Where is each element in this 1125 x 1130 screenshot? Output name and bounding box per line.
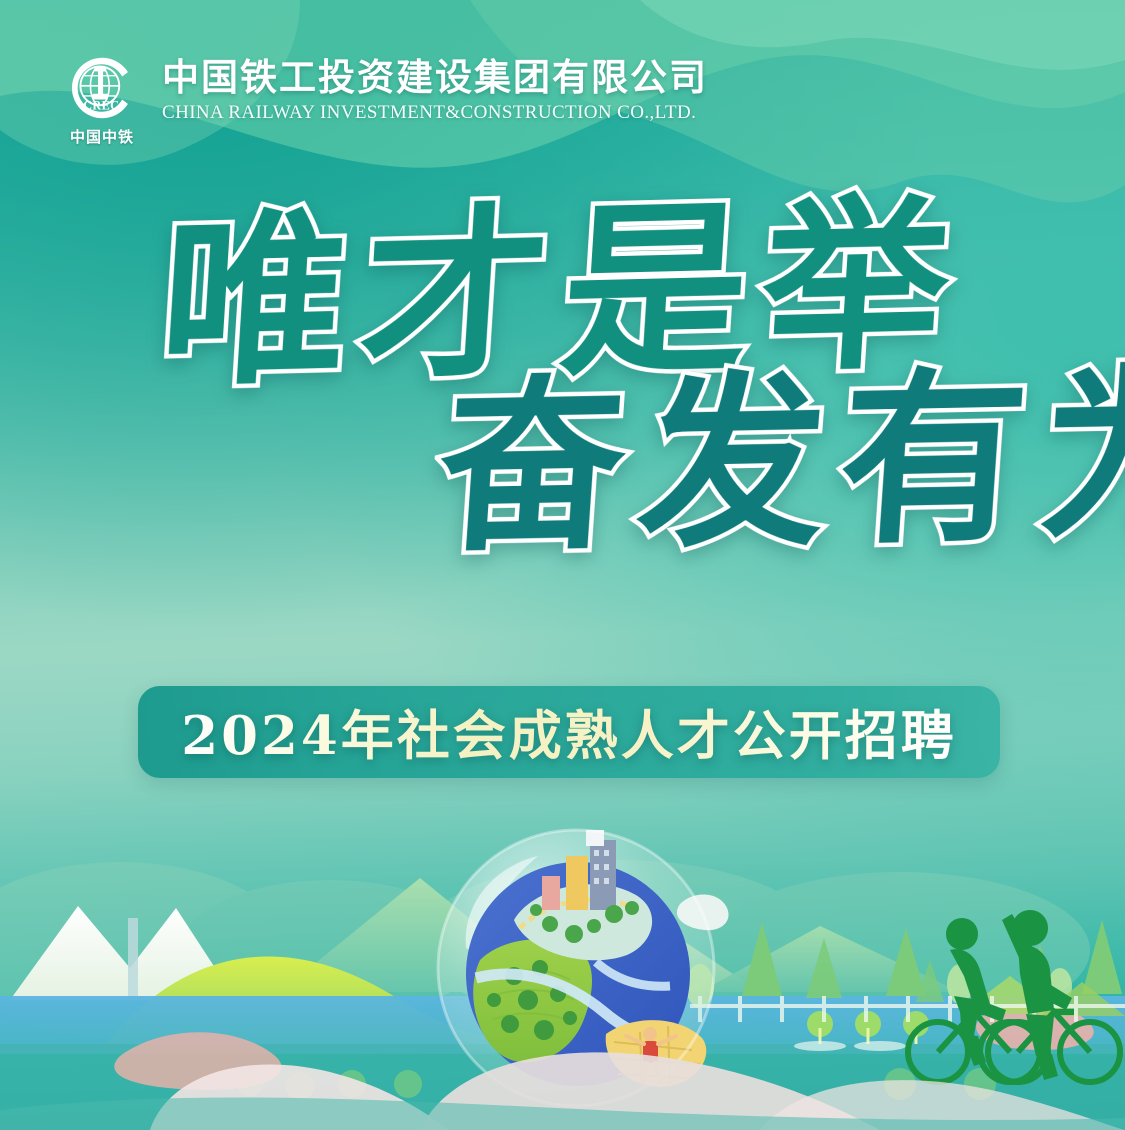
headline-line-2: 奋发有为 xyxy=(433,360,1125,561)
company-name-en: CHINA RAILWAY INVESTMENT&CONSTRUCTION CO… xyxy=(162,102,708,124)
logo-block: CREC 中国中铁 xyxy=(58,52,146,147)
recruitment-poster: CREC 中国中铁 中国铁工投资建设集团有限公司 CHINA RAILWAY I… xyxy=(0,0,1125,1130)
logo-caption: 中国中铁 xyxy=(70,126,134,147)
china-railway-emblem-icon: CREC xyxy=(66,52,138,124)
foreground-clouds xyxy=(0,960,1125,1130)
headline-block: 唯才是举 奋发有为 xyxy=(0,200,1125,554)
svg-text:CREC: CREC xyxy=(83,99,119,113)
company-names: 中国铁工投资建设集团有限公司 CHINA RAILWAY INVESTMENT&… xyxy=(162,52,708,124)
subtitle-text: 2024年社会成熟人才公开招聘 xyxy=(181,694,957,770)
company-name-cn: 中国铁工投资建设集团有限公司 xyxy=(162,58,708,97)
brand-header: CREC 中国中铁 中国铁工投资建设集团有限公司 CHINA RAILWAY I… xyxy=(58,52,708,147)
subtitle-banner: 2024年社会成熟人才公开招聘 xyxy=(138,686,1000,778)
